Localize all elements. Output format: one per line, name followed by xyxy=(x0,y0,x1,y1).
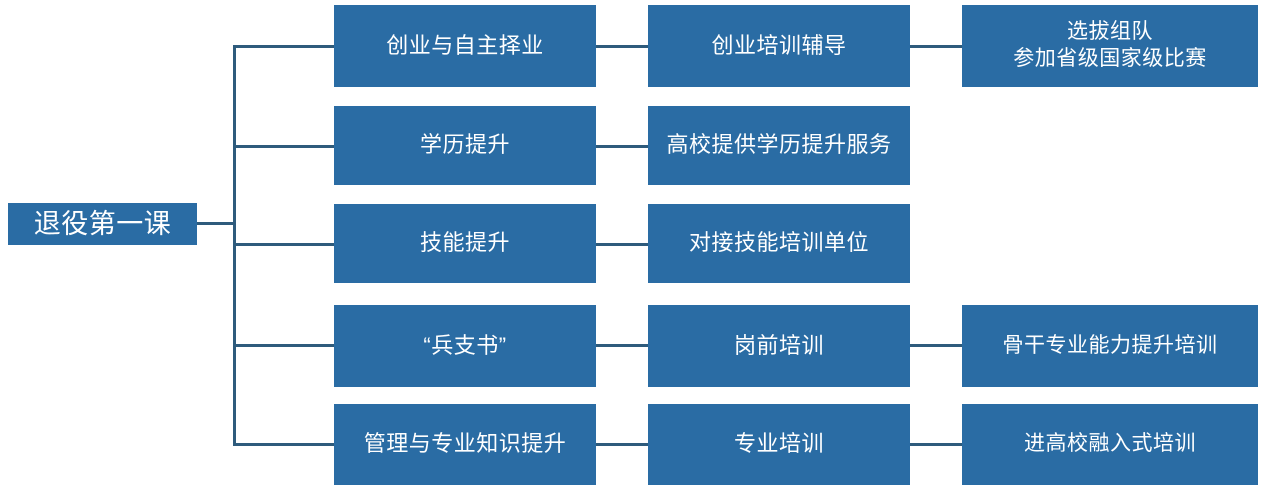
connector-l1-l2-row-4 xyxy=(596,344,648,347)
level1-node-row-3[interactable]: 技能提升 xyxy=(334,204,596,283)
connector-l1-l2-row-5 xyxy=(596,443,648,446)
level1-label-row-1: 创业与自主择业 xyxy=(386,32,544,60)
connector-l1-l2-row-3 xyxy=(596,243,648,246)
level2-label-row-5: 专业培训 xyxy=(734,430,824,458)
level2-label-row-2: 高校提供学历提升服务 xyxy=(666,131,891,159)
level1-node-row-1[interactable]: 创业与自主择业 xyxy=(334,5,596,87)
connector-branch-2 xyxy=(233,145,334,148)
level1-node-row-5[interactable]: 管理与专业知识提升 xyxy=(334,404,596,485)
connector-l1-l2-row-1 xyxy=(596,45,648,48)
level1-label-row-5: 管理与专业知识提升 xyxy=(364,430,567,458)
level1-node-row-4[interactable]: “兵支书” xyxy=(334,305,596,387)
level3-node-row-4[interactable]: 骨干专业能力提升培训 xyxy=(962,305,1258,387)
connector-l1-l2-row-2 xyxy=(596,145,648,148)
level3-label-row-5-line-1: 进高校融入式培训 xyxy=(1024,431,1196,458)
level2-node-row-4[interactable]: 岗前培训 xyxy=(648,305,910,387)
level3-label-row-1-line-2: 参加省级国家级比赛 xyxy=(1013,46,1207,73)
connector-l2-l3-row-1 xyxy=(910,45,962,48)
level2-node-row-2[interactable]: 高校提供学历提升服务 xyxy=(648,106,910,185)
connector-branch-3 xyxy=(233,243,334,246)
level1-node-row-2[interactable]: 学历提升 xyxy=(334,106,596,185)
connector-l2-l3-row-4 xyxy=(910,344,962,347)
connector-l2-l3-row-5 xyxy=(910,443,962,446)
org-chart-diagram: 退役第一课 创业与自主择业 创业培训辅导 选拔组队 参加省级国家级比赛 学历提升… xyxy=(0,0,1269,497)
level3-label-row-4-line-1: 骨干专业能力提升培训 xyxy=(1003,333,1218,360)
root-node-退役第一课[interactable]: 退役第一课 xyxy=(8,203,197,245)
level1-label-row-3: 技能提升 xyxy=(420,229,510,257)
level2-node-row-5[interactable]: 专业培训 xyxy=(648,404,910,485)
level3-node-row-1[interactable]: 选拔组队 参加省级国家级比赛 xyxy=(962,5,1258,87)
connector-branch-4 xyxy=(233,344,334,347)
connector-root-stub xyxy=(197,222,236,225)
level2-node-row-3[interactable]: 对接技能培训单位 xyxy=(648,204,910,283)
level2-label-row-3: 对接技能培训单位 xyxy=(689,229,869,257)
level3-label-row-1-line-1: 选拔组队 xyxy=(1067,19,1153,46)
root-node-label: 退役第一课 xyxy=(34,207,172,242)
connector-branch-1 xyxy=(233,45,334,48)
level2-label-row-4: 岗前培训 xyxy=(734,332,824,360)
level3-node-row-5[interactable]: 进高校融入式培训 xyxy=(962,404,1258,485)
level1-label-row-4: “兵支书” xyxy=(423,332,506,360)
connector-branch-5 xyxy=(233,443,334,446)
level2-label-row-1: 创业培训辅导 xyxy=(711,32,846,60)
level1-label-row-2: 学历提升 xyxy=(420,131,510,159)
level2-node-row-1[interactable]: 创业培训辅导 xyxy=(648,5,910,87)
